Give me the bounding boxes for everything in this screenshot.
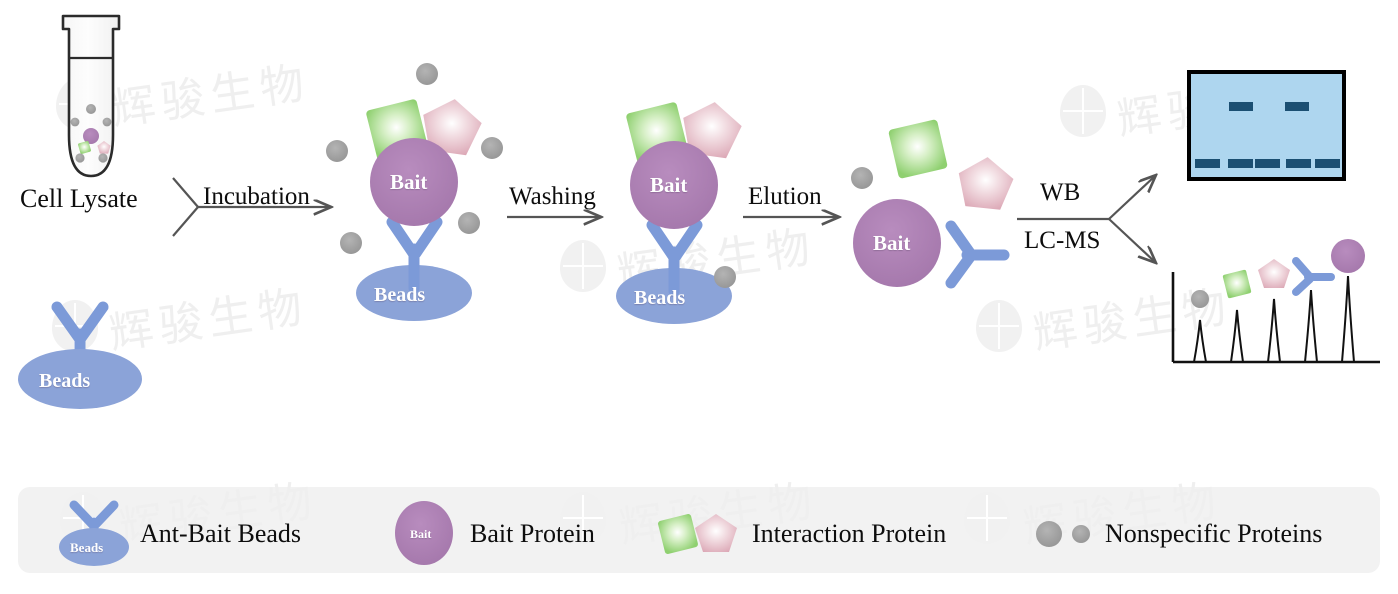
antibody-icon <box>951 226 1004 283</box>
gel-band <box>1286 159 1311 168</box>
interaction-protein-pink-icon <box>1258 259 1290 288</box>
lcms-spectrum-chart <box>1173 239 1380 362</box>
ant-bait-beads-icon <box>18 307 142 409</box>
antibody-icon <box>1296 261 1331 292</box>
step-label-lcms: LC-MS <box>1024 228 1100 253</box>
legend-bait-label: Bait <box>410 528 431 540</box>
step-label-washing: Washing <box>509 184 596 209</box>
beads-label: Beads <box>634 288 685 308</box>
nonspecific-protein-dot <box>340 232 362 254</box>
step-label-incubation: Incubation <box>203 184 310 209</box>
nonspecific-protein-dot <box>851 167 873 189</box>
step-label-wb: WB <box>1040 180 1080 205</box>
interaction-protein-green-icon <box>888 119 948 179</box>
step-label-elution: Elution <box>748 184 822 209</box>
western-blot-gel <box>1189 72 1344 179</box>
ms-peak <box>1342 276 1354 362</box>
figure-canvas: 辉骏生物 辉骏生物 辉骏生物 辉骏生物 辉骏生物 辉骏生物 辉骏生物 辉骏生物 <box>0 0 1398 594</box>
bait-label: Bait <box>873 233 910 254</box>
legend-label-ant-bait-beads: Ant-Bait Beads <box>140 521 301 547</box>
legend-icon-interaction-protein <box>657 513 737 554</box>
bait-circle <box>1331 239 1365 273</box>
legend-label-interaction-protein: Interaction Protein <box>752 521 946 547</box>
legend-icon-ant-bait-beads <box>59 505 129 566</box>
ms-peak <box>1268 299 1280 362</box>
legend-icon-nonspecific-proteins <box>1036 521 1090 547</box>
nonspecific-protein-dot <box>1191 290 1209 308</box>
gel-band <box>1285 102 1309 111</box>
gel-band <box>1255 159 1280 168</box>
bait-label: Bait <box>390 172 427 193</box>
bait-label: Bait <box>650 175 687 196</box>
ms-peak <box>1231 310 1243 362</box>
legend-beads-label: Beads <box>70 541 103 554</box>
gel-band <box>1195 159 1220 168</box>
cell-lysate-label: Cell Lysate <box>20 186 138 212</box>
gel-band <box>1229 102 1253 111</box>
nonspecific-protein-dot <box>326 140 348 162</box>
interaction-protein-pink-icon <box>955 154 1015 210</box>
nonspecific-protein-dot <box>481 137 503 159</box>
gel-band <box>1315 159 1340 168</box>
gel-band <box>1228 159 1253 168</box>
nonspecific-protein-dot <box>416 63 438 85</box>
beads-label: Beads <box>374 285 425 305</box>
interaction-protein-green-icon <box>1222 269 1251 298</box>
legend-label-bait-protein: Bait Protein <box>470 521 595 547</box>
nonspecific-protein-dot <box>458 212 480 234</box>
legend-label-nonspecific-proteins: Nonspecific Proteins <box>1105 521 1322 547</box>
ms-peak <box>1194 320 1206 362</box>
stage-after-elution <box>851 119 1015 287</box>
nonspecific-protein-dot <box>714 266 736 288</box>
ms-peak <box>1305 290 1317 362</box>
beads-label: Beads <box>39 371 90 391</box>
workflow-svg <box>0 0 1398 594</box>
cell-lysate-tube-icon <box>63 16 119 176</box>
